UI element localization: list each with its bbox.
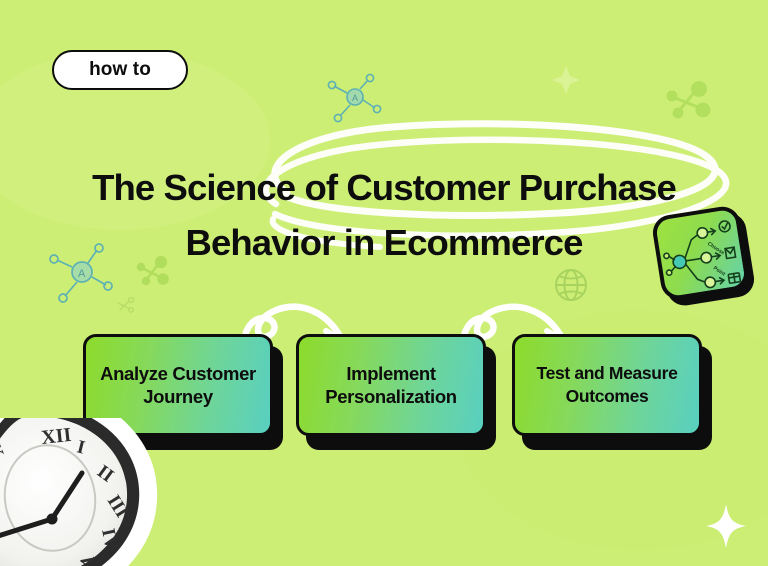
rewards-flow-tile-body[interactable]: Choose Point Reward bbox=[650, 204, 750, 302]
step-card-2[interactable]: Implement Personalization bbox=[296, 334, 496, 444]
sparkle-bottom-right bbox=[706, 504, 746, 548]
page-title-line-1: The Science of Customer Purchase bbox=[92, 167, 676, 208]
how-to-badge: how to bbox=[52, 50, 188, 90]
step-card-2-body[interactable]: Implement Personalization bbox=[296, 334, 486, 436]
sparkle-top-center bbox=[552, 66, 580, 94]
step-card-3-body[interactable]: Test and Measure Outcomes bbox=[512, 334, 702, 436]
page-title: The Science of Customer Purchase Behavio… bbox=[0, 160, 768, 270]
rewards-flow-diagram: Choose Point Reward bbox=[655, 207, 751, 301]
page-title-line-2: Behavior in Ecommerce bbox=[26, 215, 742, 270]
step-card-3-label: Test and Measure Outcomes bbox=[523, 362, 691, 408]
globe-icon bbox=[556, 270, 586, 300]
molecule-left-tiny bbox=[118, 298, 133, 313]
rewards-flow-tile[interactable]: Choose Point Reward bbox=[650, 203, 757, 309]
poster-canvas: A A bbox=[0, 0, 768, 566]
clock-numeral-XII: XII bbox=[40, 424, 72, 449]
flow-label-point: Point bbox=[712, 265, 726, 277]
how-to-badge-label: how to bbox=[89, 59, 151, 81]
molecule-top-right bbox=[668, 83, 709, 118]
step-card-1-label: Analyze Customer Journey bbox=[94, 362, 262, 408]
step-card-2-label: Implement Personalization bbox=[307, 362, 475, 408]
melting-clock: XII I II III IV V VI VII VIII IX X XI bbox=[0, 418, 224, 566]
molecule-top-center: A bbox=[328, 74, 380, 121]
step-card-3[interactable]: Test and Measure Outcomes bbox=[512, 334, 712, 444]
svg-text:A: A bbox=[352, 93, 358, 103]
